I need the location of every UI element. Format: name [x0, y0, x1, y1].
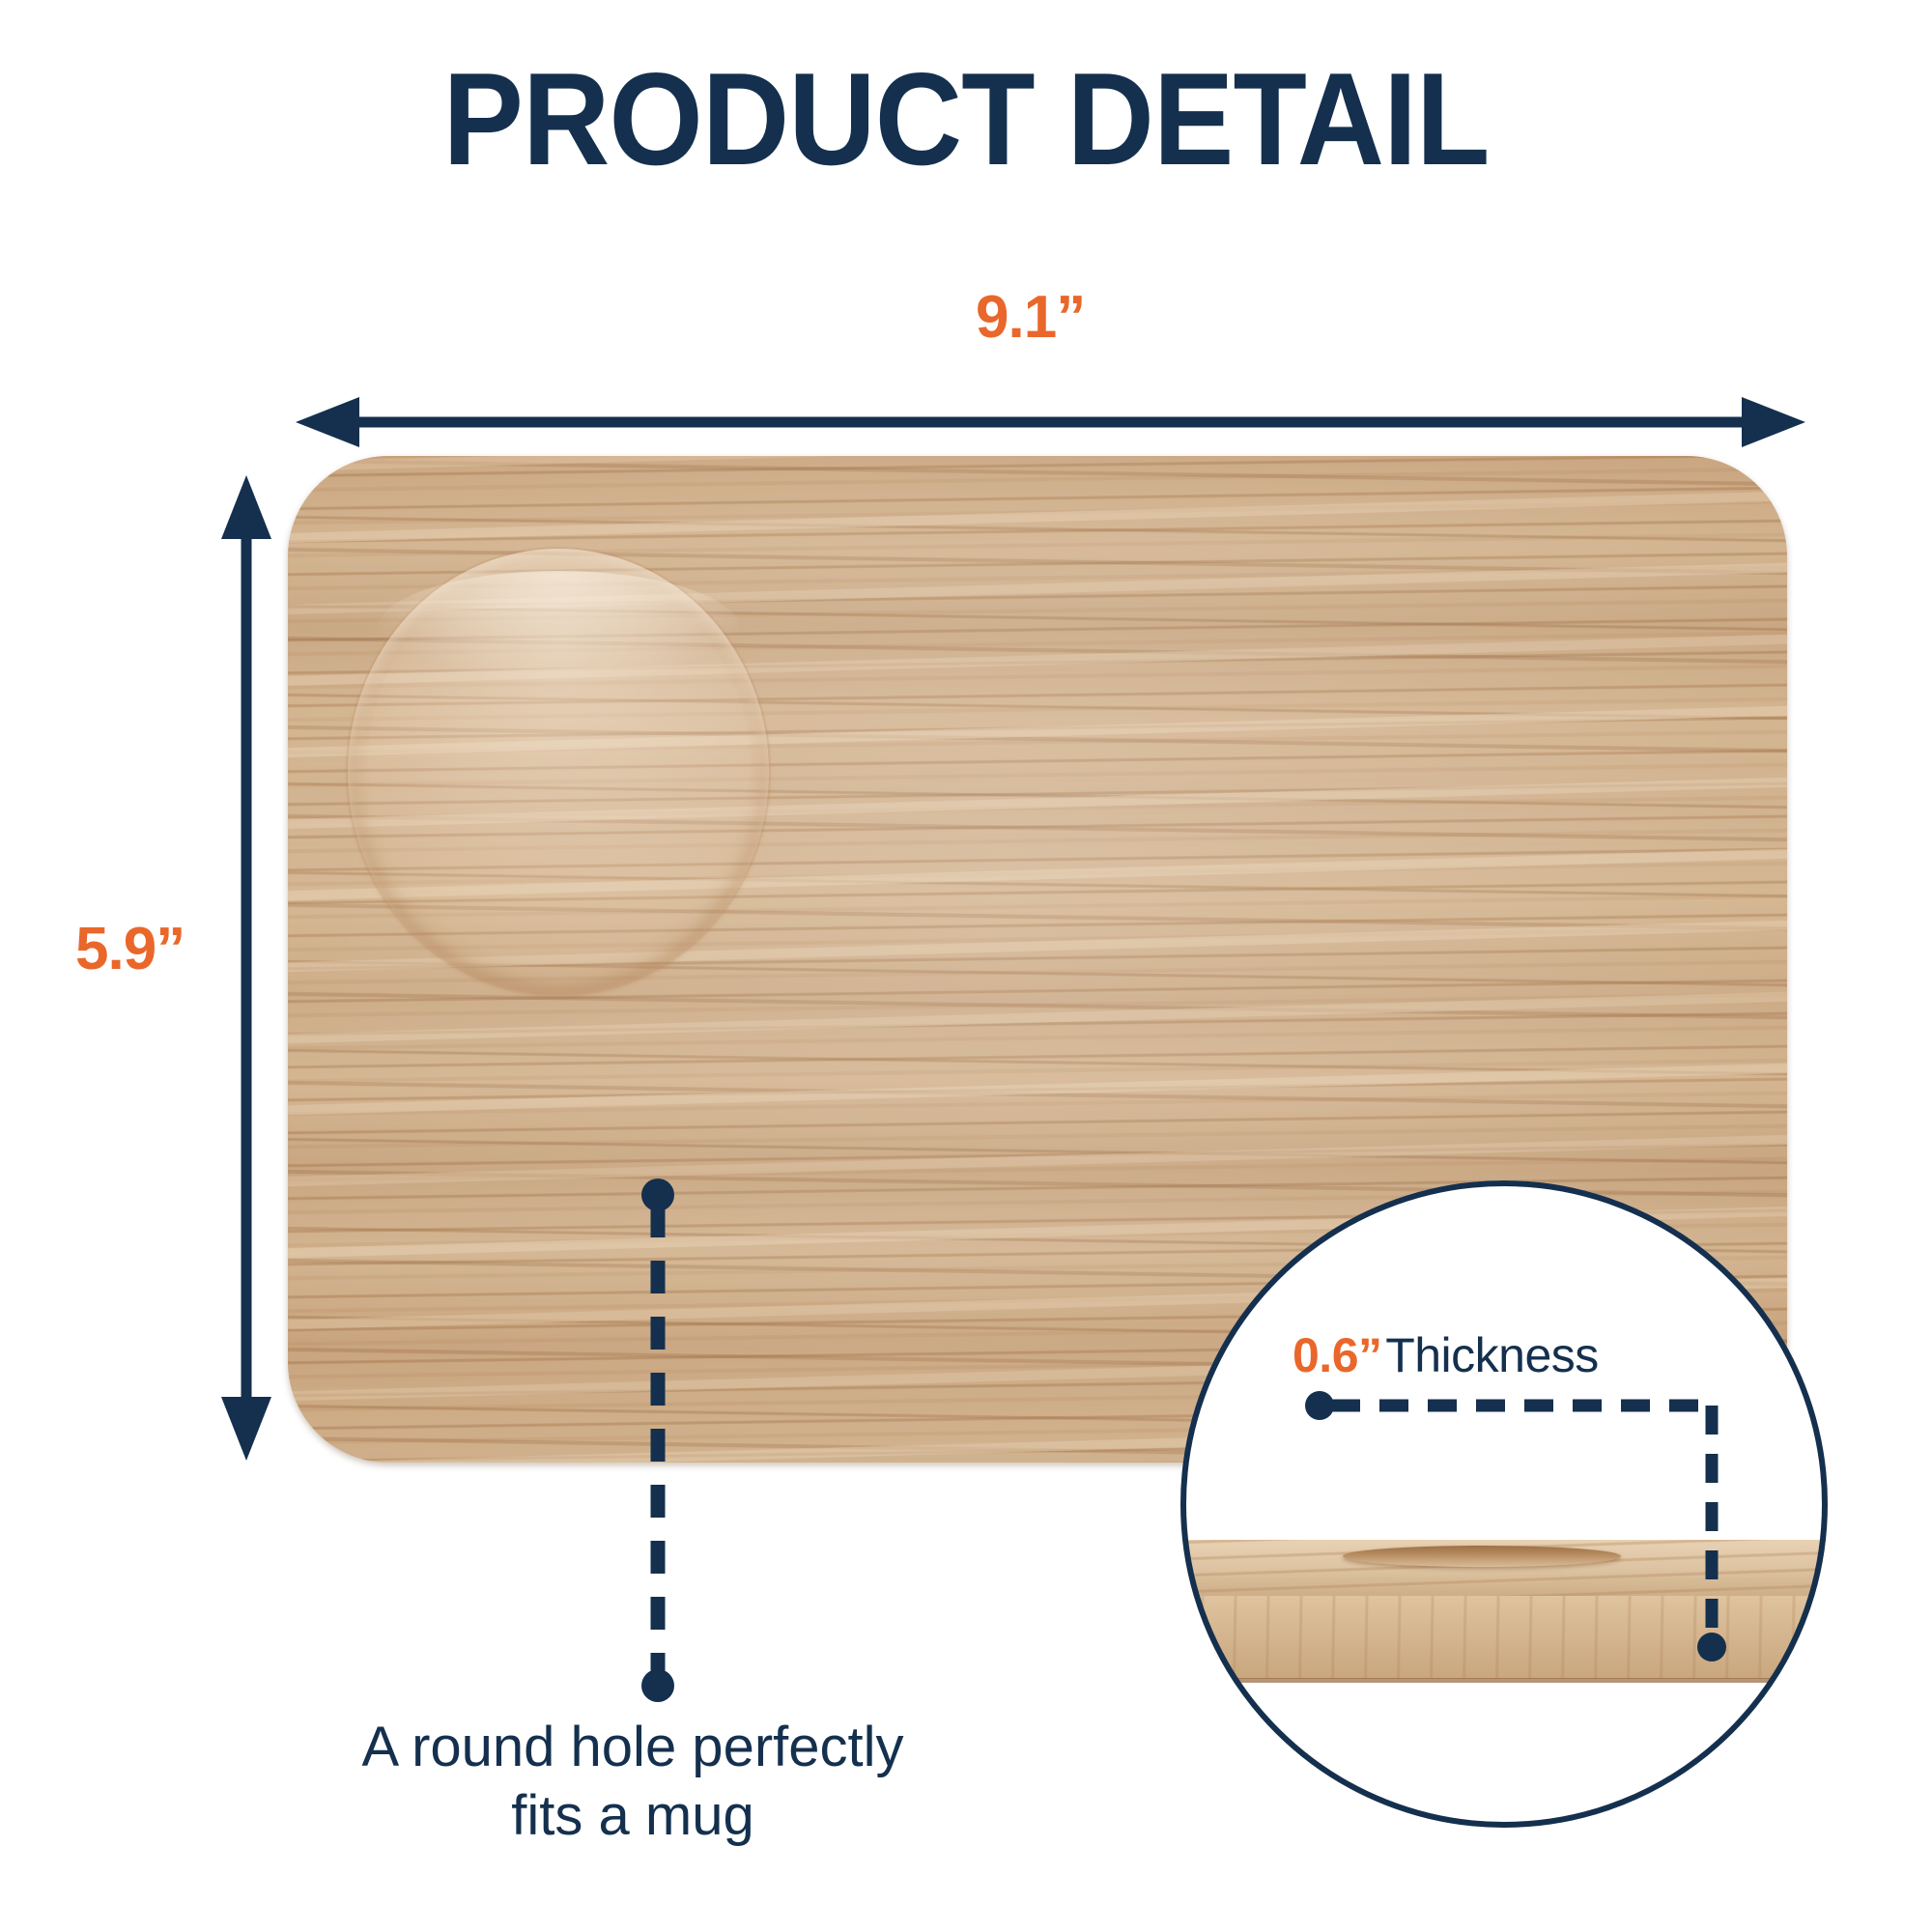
page-title: PRODUCT DETAIL [77, 50, 1855, 188]
mug-caption-line-1: A round hole perfectly [280, 1714, 985, 1782]
mug-hole-recess [348, 549, 769, 995]
thickness-inset-circle [1180, 1180, 1828, 1828]
width-arrow-head-right [1742, 397, 1805, 447]
width-dimension-arrow [296, 397, 1805, 447]
thickness-callout: 0.6” Thickness [1293, 1331, 1599, 1379]
mug-feature-caption: A round hole perfectly fits a mug [280, 1714, 985, 1851]
height-dimension-arrow [221, 475, 271, 1461]
mug-caption-line-2: fits a mug [280, 1782, 985, 1851]
width-arrow-head-left [296, 397, 359, 447]
leader-dot-bottom [641, 1669, 674, 1702]
thickness-text: Thickness [1385, 1328, 1599, 1382]
width-dimension-label: 9.1” [976, 288, 1085, 348]
height-arrow-head-top [221, 475, 271, 539]
height-dimension-label: 5.9” [75, 920, 185, 980]
inset-circle-outline [1180, 1180, 1828, 1828]
infographic-canvas: PRODUCT DETAIL 9.1” 5.9” 0.6” Thickness [0, 0, 1932, 1932]
thickness-value: 0.6” [1293, 1328, 1382, 1382]
height-arrow-head-bottom [221, 1397, 271, 1461]
